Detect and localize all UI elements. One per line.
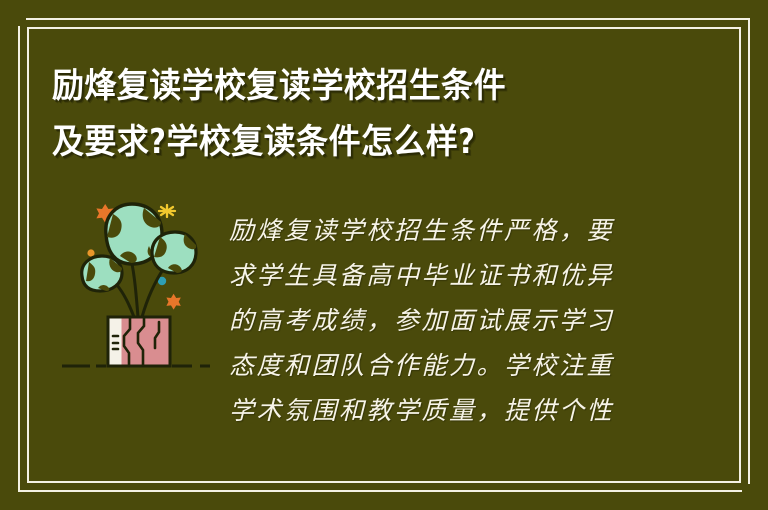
- body-line-2: 求学生具备高中毕业证书和优异: [229, 253, 659, 298]
- body-copy-block: 励烽复读学校招生条件严格，要 求学生具备高中毕业证书和优异 的高考成绩，参加面试…: [229, 208, 659, 433]
- body-line-1: 励烽复读学校招生条件严格，要: [229, 208, 659, 253]
- headline-line-2: 及要求?学校复读条件怎么样?: [52, 114, 654, 170]
- frame-notch-bottom-right-horizontal: [742, 488, 768, 494]
- headline-line-1: 励烽复读学校复读学校招生条件: [52, 58, 654, 114]
- potted-plant-illustration: [60, 196, 212, 368]
- orange-flower-lower-right-icon: [166, 294, 180, 310]
- orange-dot-left-icon: [87, 249, 94, 256]
- body-line-4: 态度和团队合作能力。学校注重: [229, 343, 659, 388]
- frame-notch-top-left-horizontal: [0, 16, 26, 22]
- plant-leaf-left: [82, 256, 122, 291]
- plant-pot: [108, 317, 170, 366]
- plant-leaf-right: [152, 232, 196, 273]
- body-line-5: 学术氛围和教学质量，提供个性: [229, 388, 659, 433]
- headline-block: 励烽复读学校复读学校招生条件 及要求?学校复读条件怎么样?: [52, 58, 692, 170]
- yellow-burst-top-right-icon: [159, 205, 175, 217]
- body-line-3: 的高考成绩，参加面试展示学习: [229, 298, 659, 343]
- poster-canvas: 励烽复读学校复读学校招生条件 及要求?学校复读条件怎么样?: [0, 0, 768, 510]
- frame-notch-top-left-vertical: [16, 0, 22, 26]
- frame-notch-bottom-right-vertical: [746, 484, 752, 510]
